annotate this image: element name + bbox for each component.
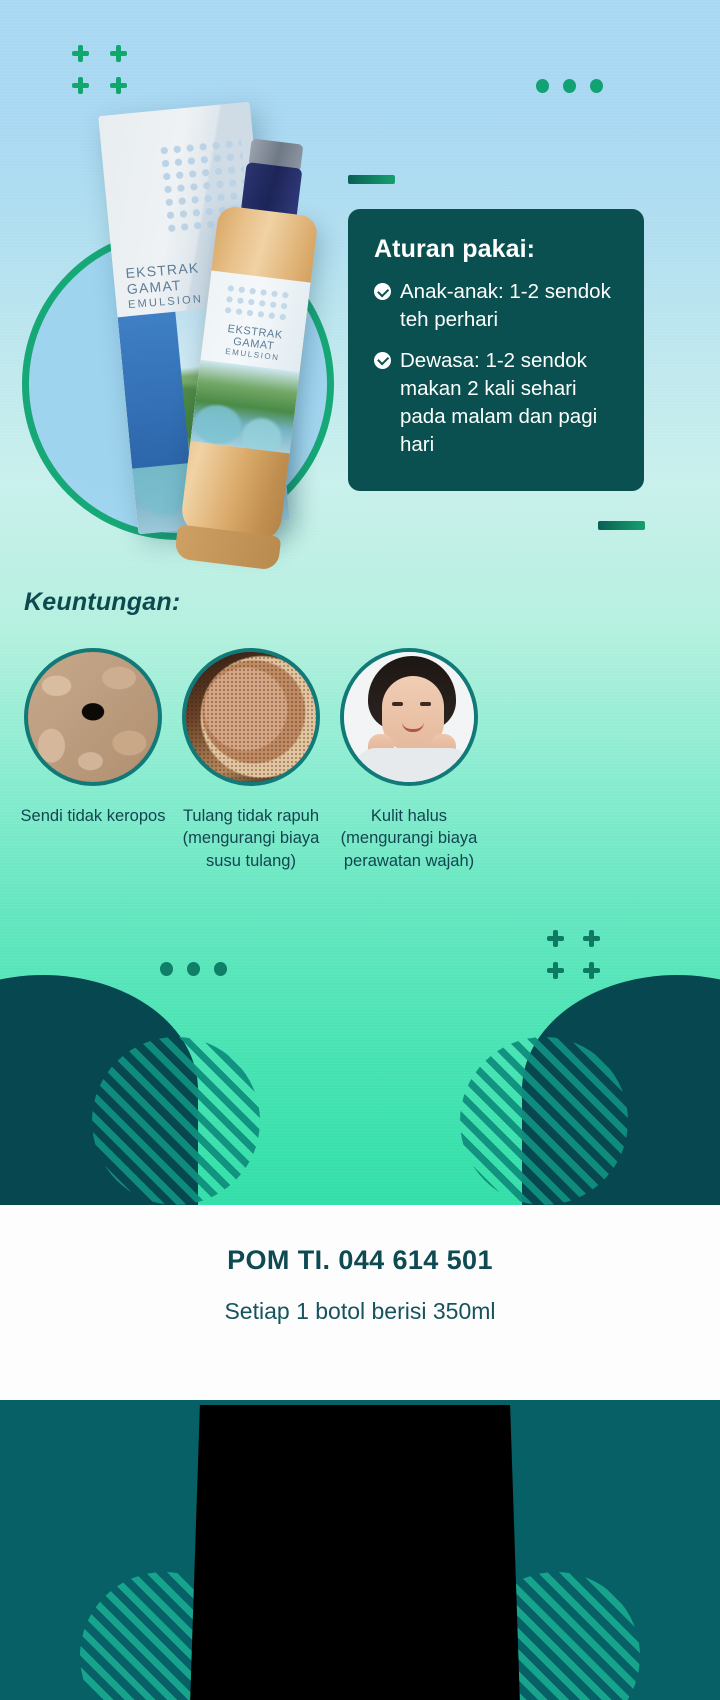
check-circle-icon	[374, 352, 391, 369]
dosage-card: Aturan pakai: Anak-anak: 1-2 sendok teh …	[348, 209, 644, 491]
hero-bottom-wave	[0, 1010, 720, 1205]
benefit-caption: Sendi tidak keropos	[14, 805, 172, 827]
benefit-caption: Tulang tidak rapuh (mengurangi biaya sus…	[172, 805, 330, 872]
benefits-row: Sendi tidak keropos Tulang tidak rapuh (…	[14, 648, 494, 872]
smooth-skin-face-icon	[340, 648, 478, 786]
bottle-label: EKSTRAK GAMAT EMULSION	[190, 270, 310, 453]
footer-dark-panel	[190, 1405, 520, 1700]
three-dots-icon	[160, 962, 227, 976]
porous-bone-icon	[24, 648, 162, 786]
hero-section: EKSTRAK GAMAT EMULSION EKSTRAK GAMAT EMU…	[0, 0, 720, 1205]
product-image: EKSTRAK GAMAT EMULSION EKSTRAK GAMAT EMU…	[0, 80, 360, 570]
infographic-page: EKSTRAK GAMAT EMULSION EKSTRAK GAMAT EMU…	[0, 0, 720, 1700]
plus-cross-icon	[583, 930, 600, 947]
bottle-volume-text: Setiap 1 botol berisi 350ml	[0, 1298, 720, 1325]
plus-cross-icon	[72, 45, 89, 62]
plus-cross-icon	[547, 930, 564, 947]
check-circle-icon	[374, 283, 391, 300]
plus-cross-icon	[547, 962, 564, 979]
dosage-item-text: Anak-anak: 1-2 sendok teh perhari	[400, 278, 622, 335]
label-text: EKSTRAK GAMAT EMULSION	[207, 321, 300, 365]
dosage-list-item: Dewasa: 1-2 sendok makan 2 kali sehari p…	[374, 347, 622, 460]
dosage-item-text: Dewasa: 1-2 sendok makan 2 kali sehari p…	[400, 347, 622, 460]
footer-band	[0, 1400, 720, 1700]
benefit-item: Sendi tidak keropos	[14, 648, 172, 872]
pom-registration-number: POM TI. 044 614 501	[0, 1245, 720, 1276]
registration-band: POM TI. 044 614 501 Setiap 1 botol beris…	[0, 1205, 720, 1400]
plus-cross-icon	[583, 962, 600, 979]
benefit-item: Kulit halus (mengurangi biaya perawatan …	[330, 648, 488, 872]
benefit-caption: Kulit halus (mengurangi biaya perawatan …	[330, 805, 488, 872]
label-photo-panel	[190, 360, 299, 454]
dash-icon	[598, 521, 645, 530]
striped-circle-icon	[92, 1037, 260, 1205]
dosage-list: Anak-anak: 1-2 sendok teh perhari Dewasa…	[374, 278, 622, 460]
benefit-item: Tulang tidak rapuh (mengurangi biaya sus…	[172, 648, 330, 872]
bone-marrow-icon	[182, 648, 320, 786]
dosage-title: Aturan pakai:	[374, 235, 622, 264]
dosage-list-item: Anak-anak: 1-2 sendok teh perhari	[374, 278, 622, 335]
plus-cross-icon	[110, 45, 127, 62]
benefits-heading: Keuntungan:	[24, 588, 180, 617]
three-dots-icon	[536, 79, 603, 93]
striped-circle-icon	[460, 1037, 628, 1205]
label-dot-pattern	[222, 282, 290, 324]
